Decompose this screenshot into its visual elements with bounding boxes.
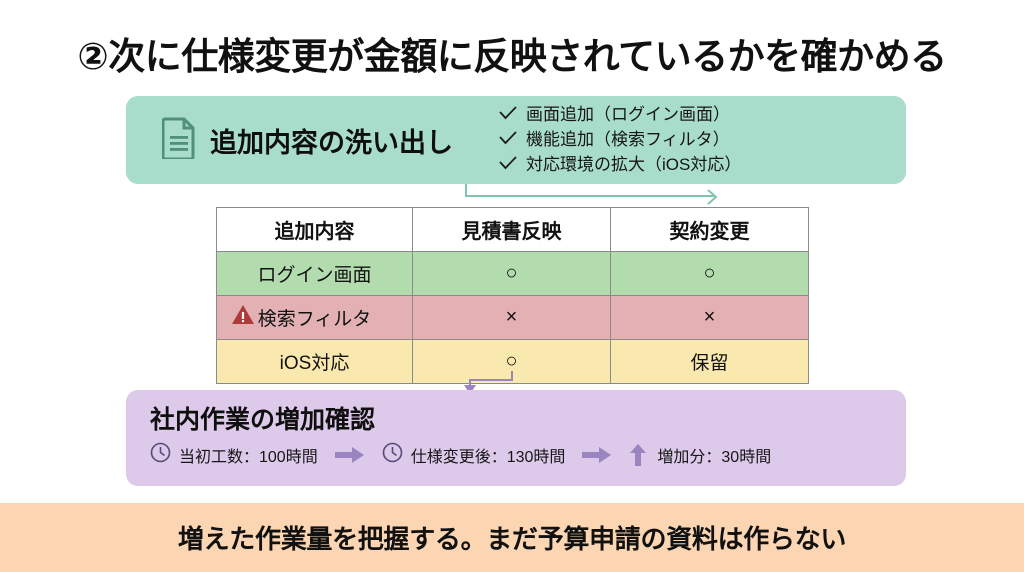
column-header-quote: 見積書反映 — [413, 208, 611, 252]
checklist-item-label: 画面追加（ログイン画面） — [526, 104, 730, 126]
table-row: ログイン画面 ○ ○ — [217, 252, 809, 296]
check-icon — [499, 104, 519, 126]
effort-metrics-row: 当初工数：100時間 仕様変更後：130時間 — [150, 442, 906, 468]
right-arrow-icon — [582, 446, 612, 464]
warning-triangle-icon — [231, 304, 255, 332]
summary-banner-text: 増えた作業量を把握する。まだ予算申請の資料は作らない — [178, 519, 846, 556]
column-header-item: 追加内容 — [217, 208, 413, 252]
page-title: ②次に仕様変更が金額に反映されているかを確かめる — [0, 26, 1024, 80]
metric-label: 仕様変更後：130時間 — [411, 443, 566, 467]
row-contract-value: × — [611, 296, 809, 340]
additions-status-table: 追加内容 見積書反映 契約変更 ログイン画面 ○ ○ — [216, 207, 808, 384]
internal-effort-heading: 社内作業の増加確認 — [150, 400, 906, 436]
metric-label: 当初工数：100時間 — [179, 443, 318, 467]
summary-banner: 増えた作業量を把握する。まだ予算申請の資料は作らない — [0, 503, 1024, 572]
clock-icon — [150, 442, 171, 468]
check-icon — [499, 154, 519, 176]
row-label: 検索フィルタ — [258, 304, 372, 331]
checklist-item-label: 対応環境の拡大（iOS対応） — [526, 154, 741, 176]
additions-checklist: 画面追加（ログイン画面） 機能追加（検索フィルタ） 対応環境の拡大（iOS対応） — [499, 104, 741, 175]
check-icon — [499, 129, 519, 151]
row-contract-value: ○ — [611, 252, 809, 296]
row-label: iOS対応 — [280, 348, 350, 375]
metric-after-change-effort: 仕様変更後：130時間 — [382, 442, 566, 468]
additions-panel-heading: 追加内容の洗い出し — [210, 121, 453, 160]
row-label-cell: ログイン画面 — [217, 252, 413, 296]
right-arrow-icon — [335, 446, 365, 464]
up-arrow-icon — [629, 443, 647, 467]
slide-root: ②次に仕様変更が金額に反映されているかを確かめる 追加内容の洗い出し 画面追加（… — [0, 0, 1024, 572]
metric-initial-effort: 当初工数：100時間 — [150, 442, 318, 468]
table-header-row: 追加内容 見積書反映 契約変更 — [217, 208, 809, 252]
metric-effort-delta: 増加分：30時間 — [629, 443, 771, 467]
row-quote-value: × — [413, 296, 611, 340]
checklist-item-label: 機能追加（検索フィルタ） — [526, 129, 730, 151]
checklist-item: 画面追加（ログイン画面） — [499, 104, 741, 126]
row-contract-value: 保留 — [611, 340, 809, 384]
column-header-contract: 契約変更 — [611, 208, 809, 252]
internal-effort-panel: 社内作業の増加確認 当初工数：100時間 — [126, 390, 906, 486]
row-label-cell: iOS対応 — [217, 340, 413, 384]
row-label: ログイン画面 — [257, 260, 371, 287]
document-icon — [162, 117, 196, 164]
table-row: 検索フィルタ × × — [217, 296, 809, 340]
checklist-item: 対応環境の拡大（iOS対応） — [499, 154, 741, 176]
row-label-cell: 検索フィルタ — [217, 296, 413, 340]
row-quote-value: ○ — [413, 252, 611, 296]
metric-label: 増加分：30時間 — [657, 443, 771, 467]
checklist-item: 機能追加（検索フィルタ） — [499, 129, 741, 151]
additions-panel: 追加内容の洗い出し 画面追加（ログイン画面） 機能追加（検索フィルタ） 対応環境… — [126, 96, 906, 184]
clock-icon — [382, 442, 403, 468]
